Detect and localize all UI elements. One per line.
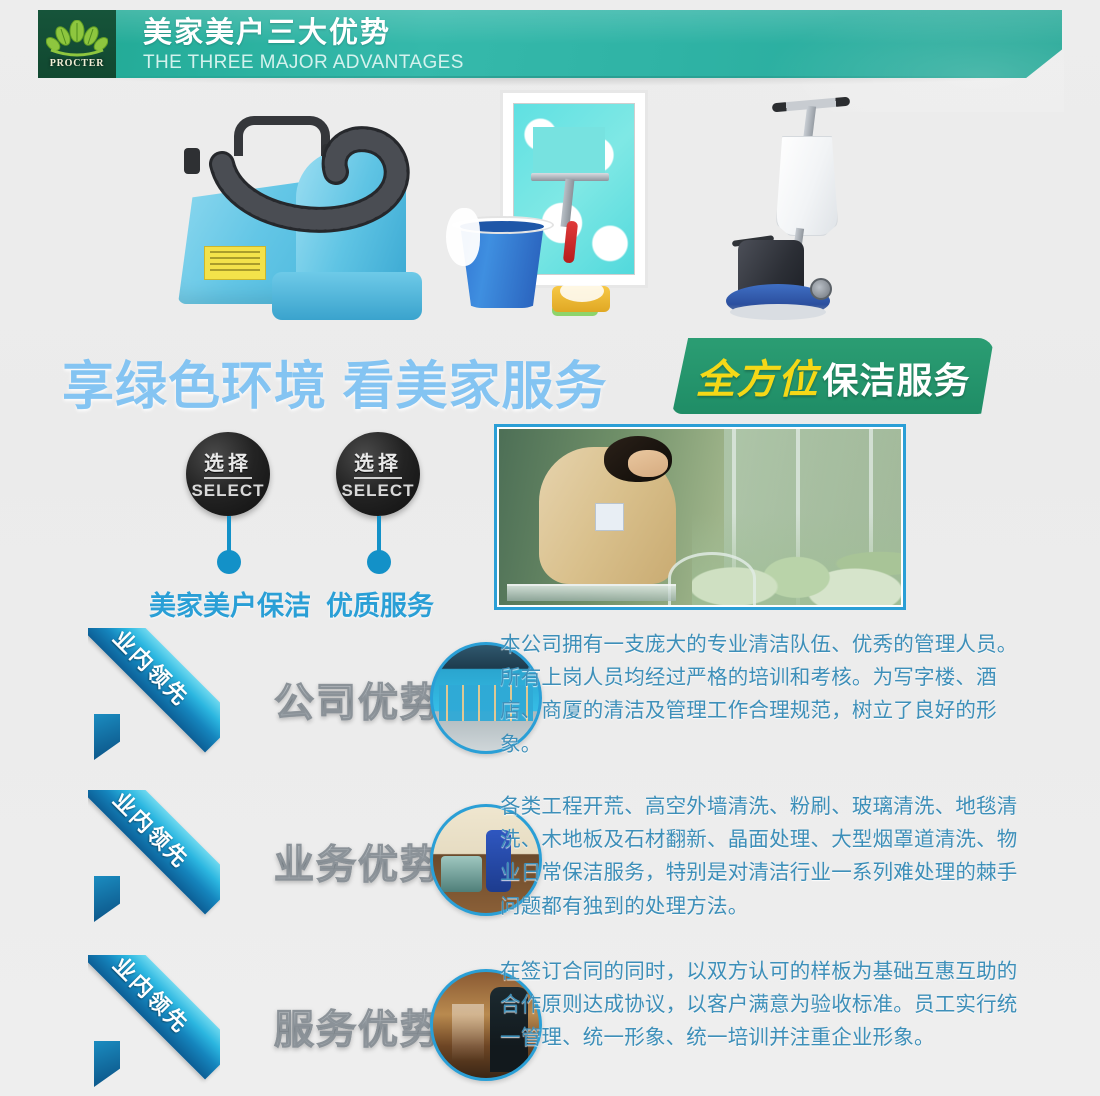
polisher-pad	[730, 304, 826, 320]
select-badge-cn: 选择	[204, 447, 252, 479]
section-body-service: 在签订合同的同时，以双方认可的样板为基础互惠互助的合作原则达成协议，以客户满意为…	[500, 955, 1018, 1055]
ribbon-label: 业内领先	[107, 628, 198, 712]
ulv-sprayer-image	[168, 104, 438, 322]
window-cleaning-illustration	[448, 90, 698, 332]
section-body-business: 各类工程开荒、高空外墙清洗、粉刷、玻璃清洗、地毯清洗、木地板及石材翻新、晶面处理…	[500, 790, 1018, 923]
bucket-suds	[446, 208, 480, 266]
ribbon-label: 业内领先	[107, 790, 198, 874]
sprayer-spec-label	[204, 246, 266, 280]
sponge-foam	[560, 280, 604, 302]
select-badge-icon: 选择 SELECT	[336, 432, 420, 516]
ribbon-label: 业内领先	[107, 955, 198, 1039]
select-pin-1-label: 美家美户保洁	[148, 584, 312, 623]
advantage-section-business: 业内领先 业务优势 各类工程开荒、高空外墙清洗、粉刷、玻璃清洗、地毯清洗、木地板…	[88, 790, 1018, 930]
header-title-cn: 美家美户三大优势	[143, 18, 464, 50]
brand-logo-word: PROCTER	[50, 58, 105, 69]
select-badge-icon: 选择 SELECT	[186, 432, 270, 516]
hero-chair	[668, 552, 756, 605]
green-service-banner: 全方位 保洁服务	[672, 338, 994, 414]
select-badge-cn: 选择	[354, 447, 402, 479]
select-pin-2-label: 优质服务	[298, 584, 462, 623]
green-banner-rest: 保洁服务	[822, 352, 970, 404]
select-pin-1[interactable]: 选择 SELECT 美家美户保洁	[186, 432, 270, 516]
hero-glass-table	[507, 584, 676, 602]
section-title-service: 服务优势	[274, 997, 442, 1055]
hero-photo-content	[499, 429, 901, 605]
worker-cleaning-glass-table-photo	[494, 424, 906, 610]
header-title-en: THE THREE MAJOR ADVANTAGES	[143, 52, 464, 74]
polisher-wheel	[810, 278, 832, 300]
polisher-tank	[776, 136, 838, 236]
hero-worker-face	[628, 450, 668, 476]
advantage-section-service: 业内领先 服务优势 在签订合同的同时，以双方认可的样板为基础互惠互助的合作原则达…	[88, 955, 1018, 1095]
sprayer-hose	[204, 112, 434, 242]
advantage-section-company: 业内领先 公司优势 本公司拥有一支庞大的专业清洁队伍、优秀的管理人员。所有上岗人…	[88, 628, 1018, 768]
section-title-business: 业务优势	[274, 832, 442, 890]
floor-polisher-image	[730, 88, 890, 332]
page-header: PROCTER 美家美户三大优势 THE THREE MAJOR ADVANTA…	[38, 10, 1062, 78]
promo-page: PROCTER 美家美户三大优势 THE THREE MAJOR ADVANTA…	[0, 0, 1100, 1096]
header-shadow	[62, 76, 1032, 86]
header-text-block: 美家美户三大优势 THE THREE MAJOR ADVANTAGES	[143, 18, 464, 74]
brand-logo: PROCTER	[38, 10, 116, 78]
main-slogan: 享绿色环境 看美家服务	[62, 344, 607, 419]
leaf-crown-icon	[46, 20, 108, 60]
pin-dot-icon	[217, 550, 241, 574]
green-banner-highlight: 全方位	[695, 347, 818, 405]
sprayer-base	[272, 272, 422, 320]
window-clean-patch	[533, 127, 605, 173]
pin-dot-icon	[367, 550, 391, 574]
product-image-row	[0, 86, 1100, 336]
select-badge-en: SELECT	[191, 481, 264, 501]
sprayer-knob-left	[184, 148, 200, 174]
section-title-company: 公司优势	[274, 670, 442, 728]
hero-worker-id-badge	[595, 503, 623, 531]
select-badge-en: SELECT	[341, 481, 414, 501]
select-pin-2[interactable]: 选择 SELECT 优质服务	[336, 432, 420, 516]
section-body-company: 本公司拥有一支庞大的专业清洁队伍、优秀的管理人员。所有上岗人员均经过严格的培训和…	[500, 628, 1018, 761]
